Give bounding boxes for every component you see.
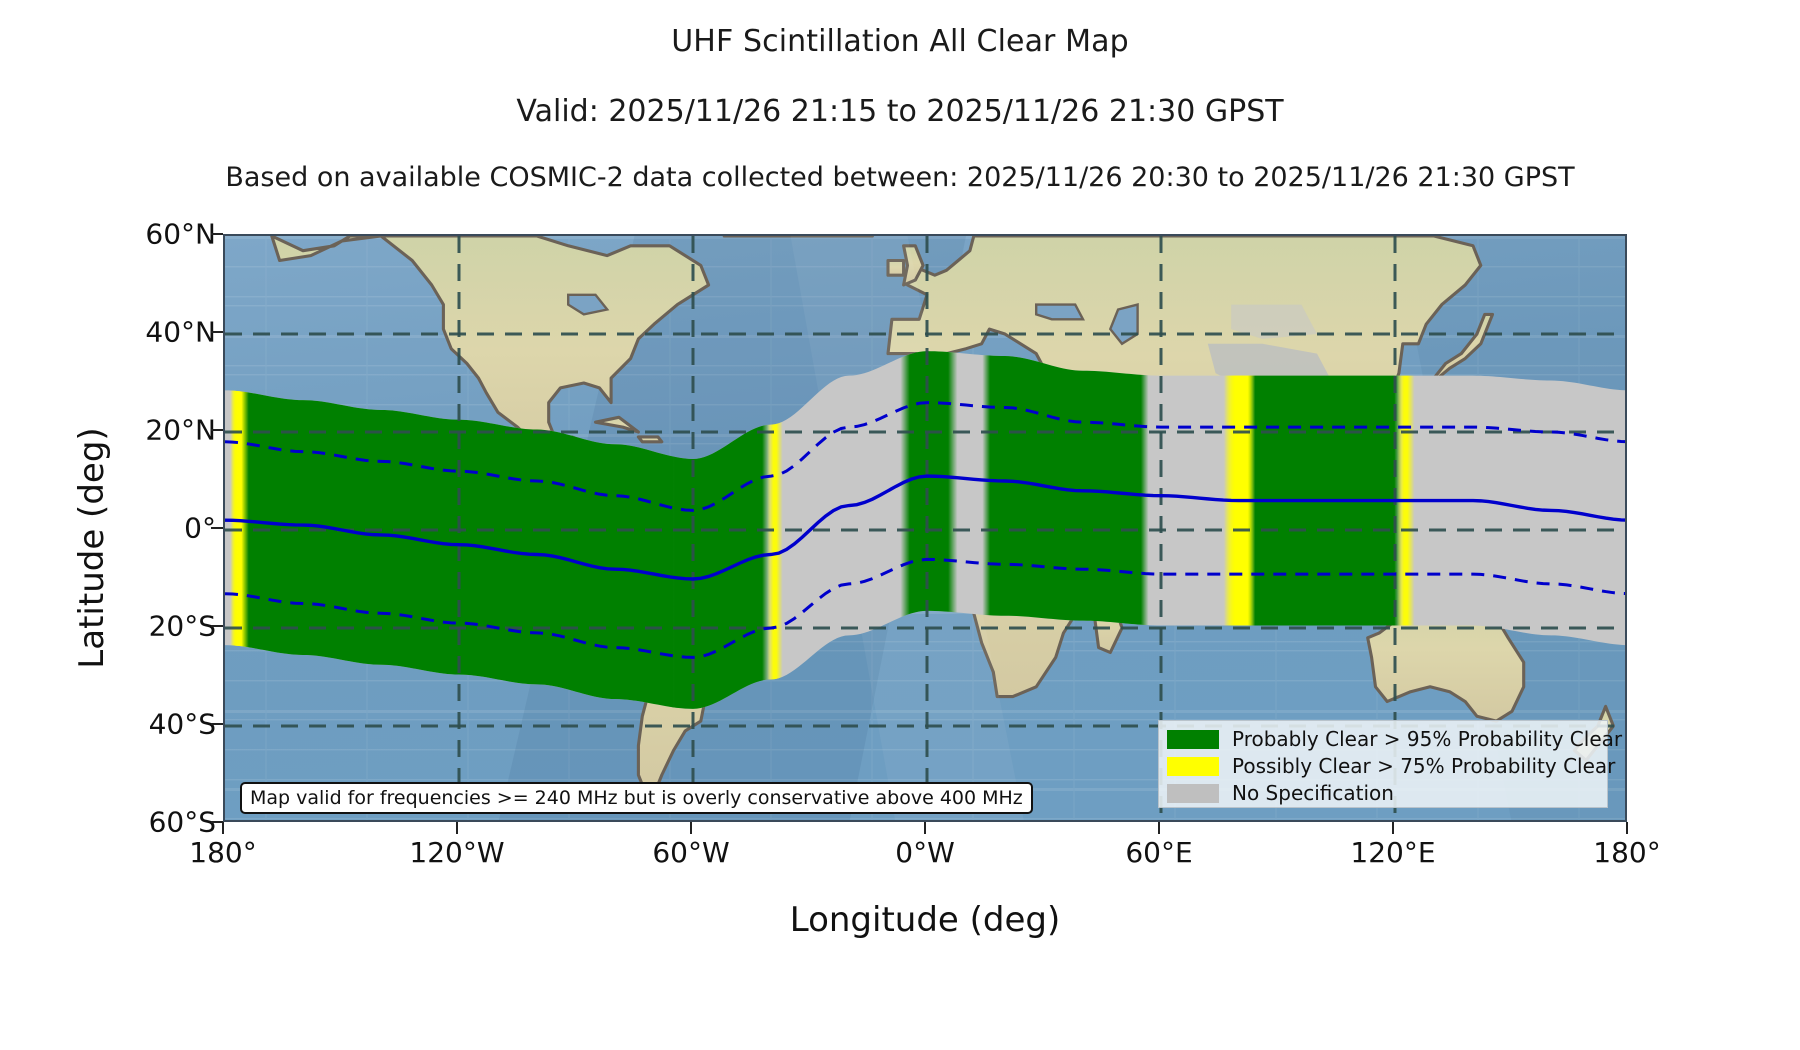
x-tick-label: 60°W (652, 836, 729, 869)
frequency-validity-note: Map valid for frequencies >= 240 MHz but… (240, 782, 1033, 814)
y-tick-mark (211, 625, 223, 627)
yellow-swatch (1167, 757, 1219, 776)
y-tick-mark (211, 331, 223, 333)
valid-period-subtitle: Valid: 2025/11/26 21:15 to 2025/11/26 21… (0, 94, 1800, 129)
x-tick-label: 120°W (409, 836, 504, 869)
legend-label: Probably Clear > 95% Probability Clear (1232, 729, 1622, 749)
legend-label: Possibly Clear > 75% Probability Clear (1232, 756, 1615, 776)
y-tick-label: 0° (16, 512, 216, 545)
x-tick-mark (924, 822, 926, 834)
x-axis-label: Longitude (deg) (223, 900, 1627, 940)
y-tick-label: 60°N (16, 218, 216, 251)
y-tick-label: 60°S (16, 806, 216, 839)
y-tick-mark (211, 723, 223, 725)
x-tick-label: 180° (189, 836, 256, 869)
y-tick-mark (211, 527, 223, 529)
y-axis-label: Latitude (deg) (72, 248, 112, 848)
x-tick-mark (1626, 822, 1628, 834)
page-title: UHF Scintillation All Clear Map (0, 24, 1800, 59)
legend-item-no-specification: No Specification (1167, 780, 1599, 806)
x-tick-mark (222, 822, 224, 834)
green-swatch (1167, 730, 1219, 749)
x-tick-label: 120°E (1350, 836, 1435, 869)
x-tick-mark (456, 822, 458, 834)
x-tick-mark (690, 822, 692, 834)
y-tick-label: 20°N (16, 414, 216, 447)
x-tick-label: 60°E (1125, 836, 1192, 869)
legend-item-probably-clear: Probably Clear > 95% Probability Clear (1167, 726, 1599, 752)
x-tick-label: 180° (1593, 836, 1660, 869)
y-tick-label: 20°S (16, 610, 216, 643)
y-tick-mark (211, 429, 223, 431)
map-legend: Probably Clear > 95% Probability Clear P… (1158, 720, 1608, 808)
x-tick-label: 0°W (895, 836, 955, 869)
y-tick-label: 40°S (16, 708, 216, 741)
legend-label: No Specification (1232, 783, 1394, 803)
x-tick-mark (1158, 822, 1160, 834)
gray-swatch (1167, 784, 1219, 803)
data-source-subtitle: Based on available COSMIC-2 data collect… (0, 162, 1800, 193)
y-tick-label: 40°N (16, 316, 216, 349)
y-tick-mark (211, 233, 223, 235)
x-tick-mark (1392, 822, 1394, 834)
note-text: Map valid for frequencies >= 240 MHz but… (250, 787, 1023, 809)
legend-item-possibly-clear: Possibly Clear > 75% Probability Clear (1167, 753, 1599, 779)
figure-root: UHF Scintillation All Clear Map Valid: 2… (0, 0, 1800, 1050)
